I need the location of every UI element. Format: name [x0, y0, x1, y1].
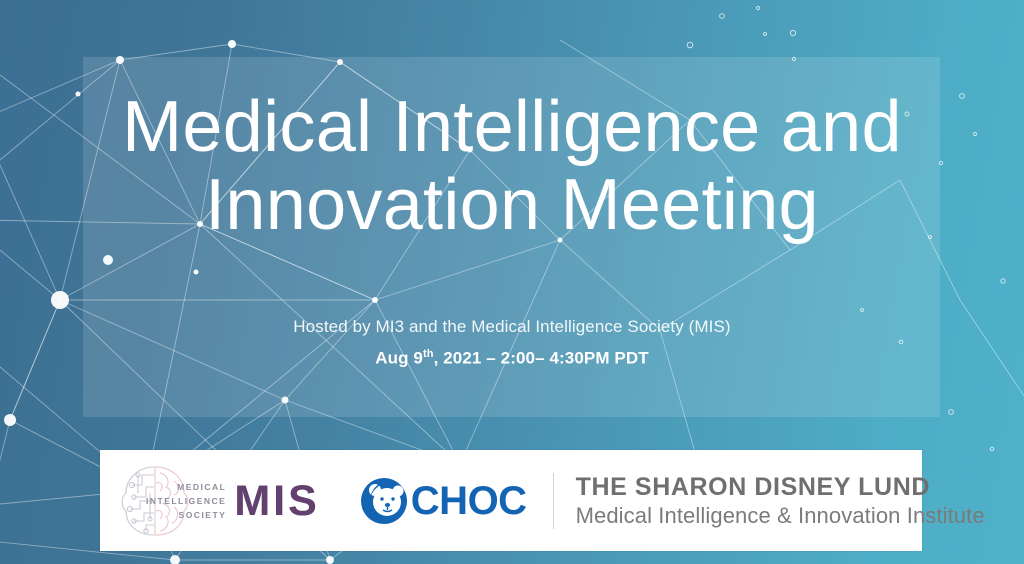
choc-wordmark: CHOC	[411, 481, 527, 521]
event-date-monthday: Aug 9	[375, 349, 423, 368]
choc-bear-icon	[360, 477, 408, 525]
mis-logo: MEDICAL INTELLIGENCE SOCIETY MIS	[118, 463, 320, 539]
page-title: Medical Intelligence and Innovation Meet…	[0, 88, 1024, 244]
institute-line-1: THE SHARON DISNEY LUND	[576, 472, 985, 502]
mis-word-line-2: INTELLIGENCE	[146, 494, 226, 508]
title-line-1: Medical Intelligence and	[0, 88, 1024, 166]
event-date-ordinal: th	[423, 348, 434, 360]
mis-mark: MIS	[234, 479, 319, 523]
mis-word-line-3: SOCIETY	[146, 508, 226, 522]
institute-line-2: Medical Intelligence & Innovation Instit…	[576, 502, 985, 530]
mis-wordmark-lines: MEDICAL INTELLIGENCE SOCIETY	[146, 480, 226, 522]
sponsor-logo-bar: MEDICAL INTELLIGENCE SOCIETY MIS	[100, 450, 922, 551]
event-datetime: Aug 9th, 2021 – 2:00– 4:30PM PDT	[0, 348, 1024, 369]
presentation-slide: Medical Intelligence and Innovation Meet…	[0, 0, 1024, 564]
mis-word-line-1: MEDICAL	[146, 480, 226, 494]
logo-bar-divider	[553, 473, 554, 529]
choc-logo: CHOC	[360, 477, 527, 525]
subtitle-host-line: Hosted by MI3 and the Medical Intelligen…	[0, 317, 1024, 337]
title-line-2: Innovation Meeting	[0, 166, 1024, 244]
institute-name: THE SHARON DISNEY LUND Medical Intellige…	[576, 472, 985, 530]
event-date-rest: , 2021 – 2:00– 4:30PM PDT	[434, 349, 649, 368]
